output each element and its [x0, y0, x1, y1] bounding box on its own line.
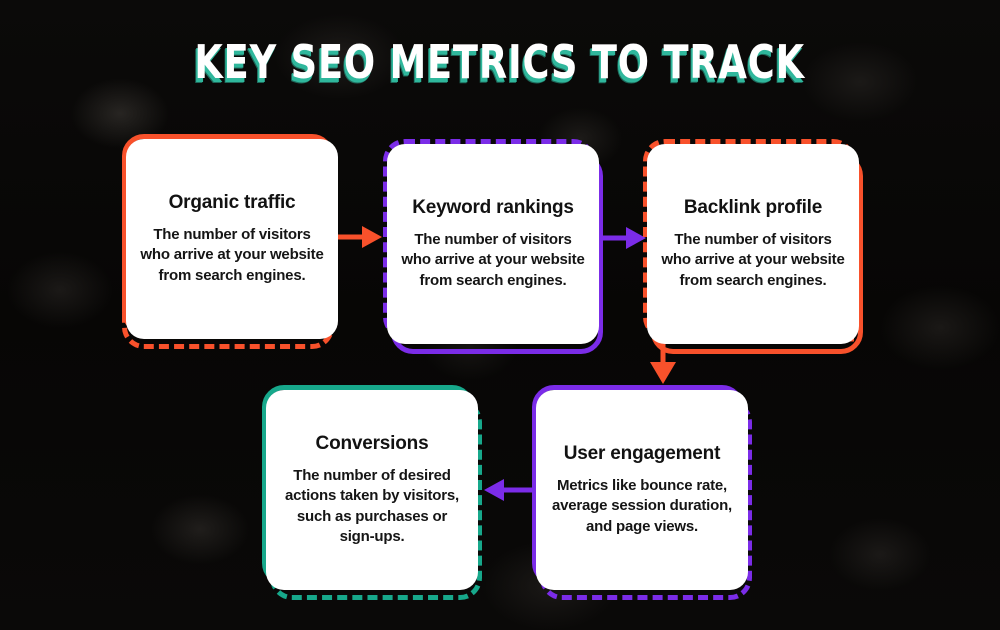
card-description: The number of desired actions taken by v…	[278, 466, 466, 548]
card-title: Organic traffic	[169, 192, 296, 214]
card-description: Metrics like bounce rate, average sessio…	[548, 476, 736, 538]
card-description: The number of visitors who arrive at you…	[659, 230, 847, 292]
card-panel: Keyword rankings The number of visitors …	[387, 144, 599, 344]
card-title: Conversions	[316, 433, 429, 455]
card-panel: Organic traffic The number of visitors w…	[126, 139, 338, 339]
card-title: User engagement	[564, 443, 720, 465]
card-keyword-rankings[interactable]: Keyword rankings The number of visitors …	[387, 144, 599, 344]
arrow-user-engagement-to-conversions	[478, 468, 540, 514]
arrow-organic-traffic-to-keyword-rankings	[330, 222, 390, 252]
card-title: Keyword rankings	[412, 197, 574, 219]
card-organic-traffic[interactable]: Organic traffic The number of visitors w…	[126, 139, 338, 339]
card-panel: Conversions The number of desired action…	[266, 390, 478, 590]
page-title-text: KEY SEO METRICS TO TRACK	[195, 36, 806, 88]
card-description: The number of visitors who arrive at you…	[138, 225, 326, 287]
infographic-canvas: KEY SEO METRICS TO TRACK Organic traffic…	[0, 0, 1000, 630]
card-panel: User engagement Metrics like bounce rate…	[536, 390, 748, 590]
card-backlink-profile[interactable]: Backlink profile The number of visitors …	[647, 144, 859, 344]
card-user-engagement[interactable]: User engagement Metrics like bounce rate…	[536, 390, 748, 590]
card-conversions[interactable]: Conversions The number of desired action…	[266, 390, 478, 590]
card-description: The number of visitors who arrive at you…	[399, 230, 587, 292]
page-title: KEY SEO METRICS TO TRACK	[0, 36, 1000, 88]
card-title: Backlink profile	[684, 197, 822, 219]
card-panel: Backlink profile The number of visitors …	[647, 144, 859, 344]
